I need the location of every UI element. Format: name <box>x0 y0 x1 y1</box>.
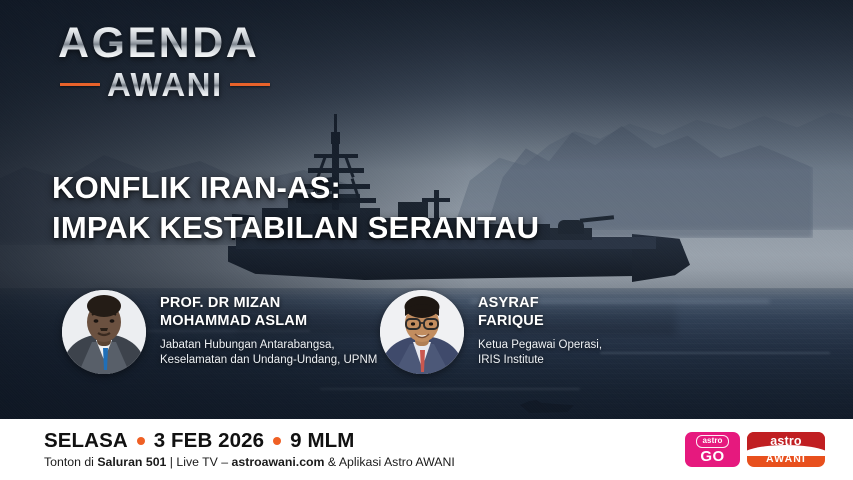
bullet-separator-icon <box>137 437 145 445</box>
logo-accent-dash-right <box>230 83 270 86</box>
headline-line-2: IMPAK KESTABILAN SERANTAU <box>52 208 539 248</box>
live-label: Live TV – <box>176 455 231 469</box>
speaker-details: ASYRAF FARIQUE Ketua Pegawai Operasi, IR… <box>478 295 602 368</box>
speaker-card-1: PROF. DR MIZAN MOHAMMAD ASLAM Jabatan Hu… <box>62 290 377 374</box>
astro-go-word: GO <box>700 449 724 464</box>
brand-logos: astro GO astro AWANI <box>685 432 835 467</box>
website-url[interactable]: astroawani.com <box>232 455 325 469</box>
avatar <box>380 290 464 374</box>
text-separator: | <box>166 455 176 469</box>
watch-instructions: Tonton di Saluran 501 | Live TV – astroa… <box>44 455 455 469</box>
headline-line-1: KONFLIK IRAN-AS: <box>52 168 539 208</box>
speaker-card-2: ASYRAF FARIQUE Ketua Pegawai Operasi, IR… <box>380 290 602 374</box>
astro-awani-word: AWANI <box>766 453 806 465</box>
astro-awani-bottom: AWANI <box>747 451 825 467</box>
avatar <box>62 290 146 374</box>
program-logo-awani-row: AWANI <box>58 68 308 101</box>
astro-go-brand: astro <box>696 435 728 448</box>
speaker-name: ASYRAF FARIQUE <box>478 295 602 330</box>
broadcast-info-bar: SELASA 3 FEB 2026 9 MLM Tonton di Salura… <box>0 419 853 480</box>
bullet-separator-icon <box>273 437 281 445</box>
air-date-line: SELASA 3 FEB 2026 9 MLM <box>44 430 455 452</box>
speaker-role: Ketua Pegawai Operasi, IRIS Institute <box>478 338 602 369</box>
watch-prefix: Tonton di <box>44 455 97 469</box>
program-logo-agenda: AGENDA <box>58 22 308 65</box>
speaker-details: PROF. DR MIZAN MOHAMMAD ASLAM Jabatan Hu… <box>160 295 377 368</box>
app-suffix: & Aplikasi Astro AWANI <box>325 455 455 469</box>
program-logo-awani: AWANI <box>107 68 223 101</box>
channel-name: Saluran 501 <box>97 455 166 469</box>
speaker-name: PROF. DR MIZAN MOHAMMAD ASLAM <box>160 295 377 330</box>
program-logo: AGENDA AWANI <box>58 22 308 101</box>
astro-awani-logo[interactable]: astro AWANI <box>747 432 825 467</box>
logo-accent-dash-left <box>60 83 100 86</box>
air-time: 9 MLM <box>290 430 354 452</box>
broadcast-info-text: SELASA 3 FEB 2026 9 MLM Tonton di Salura… <box>44 430 455 470</box>
episode-headline: KONFLIK IRAN-AS: IMPAK KESTABILAN SERANT… <box>52 168 539 247</box>
air-day: SELASA <box>44 430 128 452</box>
astro-go-logo[interactable]: astro GO <box>685 432 740 467</box>
air-date: 3 FEB 2026 <box>154 430 264 452</box>
broadcast-promo-poster: AGENDA AWANI KONFLIK IRAN-AS: IMPAK KEST… <box>0 0 853 480</box>
speaker-role: Jabatan Hubungan Antarabangsa, Keselamat… <box>160 338 377 369</box>
